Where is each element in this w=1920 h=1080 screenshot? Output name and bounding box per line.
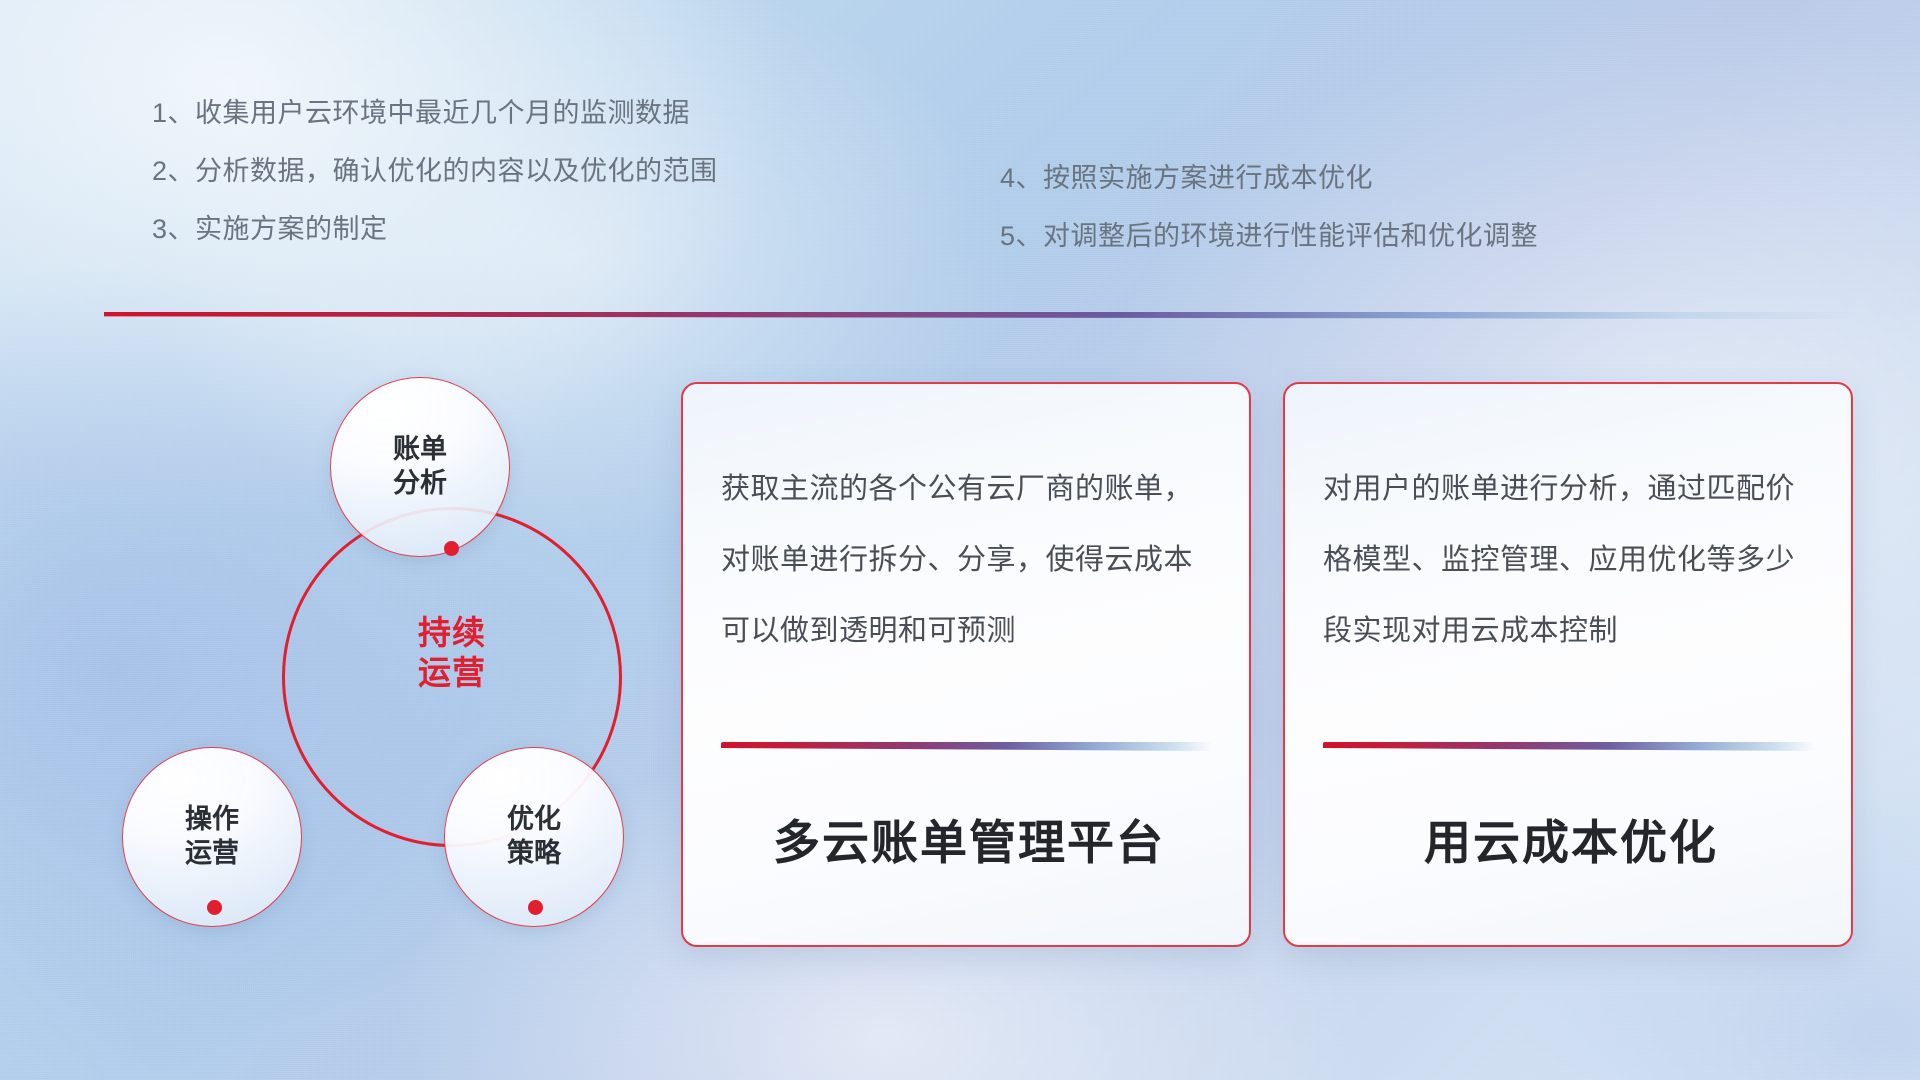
venn-center-label-line1: 持续 xyxy=(282,613,622,653)
bubble-label-line2: 运营 xyxy=(185,837,239,871)
bullet-list-right: 4、按照实施方案进行成本优化 5、对调整后的环境进行性能评估和优化调整 xyxy=(1000,165,1538,250)
venn-center-label-line2: 运营 xyxy=(282,653,622,693)
card-divider xyxy=(721,742,1213,751)
bullet-list-left: 1、收集用户云环境中最近几个月的监测数据 2、分析数据，确认优化的内容以及优化的… xyxy=(152,100,718,243)
card-title: 多云账单管理平台 xyxy=(719,804,1219,873)
bullet-item: 4、按照实施方案进行成本优化 xyxy=(1000,165,1538,192)
venn-bubble-bill-analysis[interactable]: 账单 分析 xyxy=(330,377,510,557)
card-body-text: 获取主流的各个公有云厂商的账单，对账单进行拆分、分享，使得云成本可以做到透明和可… xyxy=(721,454,1215,667)
bullet-item: 5、对调整后的环境进行性能评估和优化调整 xyxy=(1000,223,1538,250)
venn-diagram: 持续 运营 账单 分析 操作 运营 优化 策略 xyxy=(96,355,626,955)
bubble-label-line1: 操作 xyxy=(185,803,239,837)
bullet-item: 2、分析数据，确认优化的内容以及优化的范围 xyxy=(152,158,718,185)
card-divider xyxy=(1323,742,1815,751)
venn-node-dot-right xyxy=(528,900,543,915)
bubble-label-line2: 策略 xyxy=(507,837,561,871)
card-title: 用云成本优化 xyxy=(1321,804,1821,873)
bullet-item: 3、实施方案的制定 xyxy=(152,216,718,243)
card-cloud-cost-optimization[interactable]: 对用户的账单进行分析，通过匹配价格模型、监控管理、应用优化等多少段实现对用云成本… xyxy=(1283,382,1853,947)
bullet-item: 1、收集用户云环境中最近几个月的监测数据 xyxy=(152,100,718,127)
bubble-label-line2: 分析 xyxy=(393,467,447,501)
card-body-text: 对用户的账单进行分析，通过匹配价格模型、监控管理、应用优化等多少段实现对用云成本… xyxy=(1323,454,1817,667)
card-multi-cloud-billing[interactable]: 获取主流的各个公有云厂商的账单，对账单进行拆分、分享，使得云成本可以做到透明和可… xyxy=(681,382,1251,947)
bubble-label-line1: 账单 xyxy=(393,433,447,467)
venn-node-dot-left xyxy=(207,900,222,915)
bubble-label-line1: 优化 xyxy=(507,803,561,837)
venn-node-dot-top xyxy=(444,541,459,556)
venn-center-label: 持续 运营 xyxy=(282,613,622,694)
